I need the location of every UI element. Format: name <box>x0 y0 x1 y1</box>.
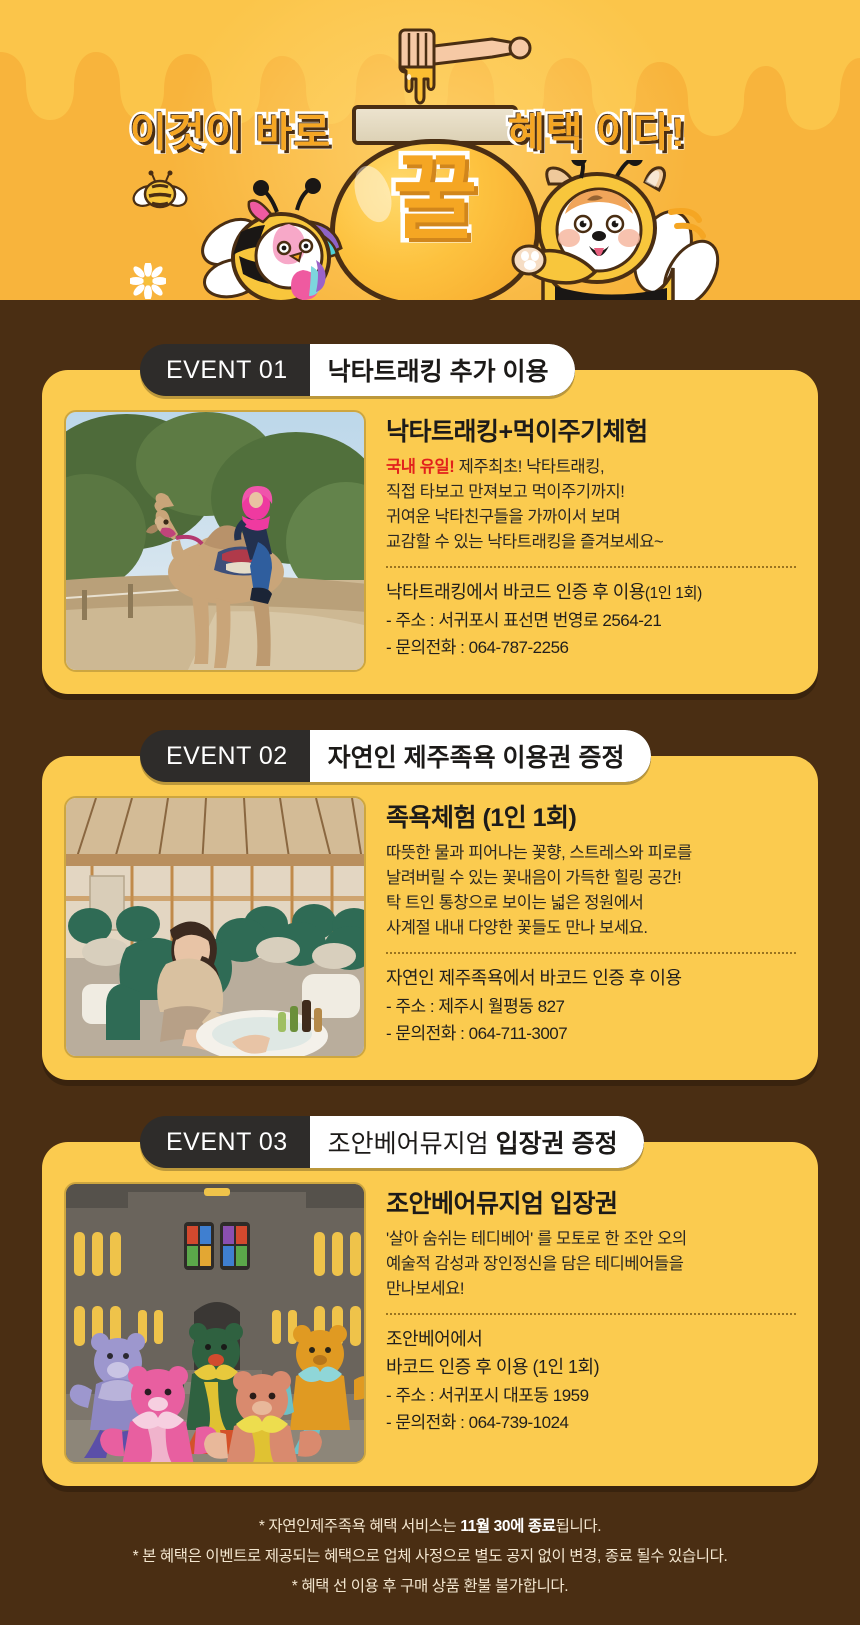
event-02-desc-line-3: 사계절 내내 다양한 꽃들도 만나 보세요. <box>386 919 648 937</box>
event-03-usage-1: 조안베어에서 <box>386 1326 796 1354</box>
event-01-divider <box>386 566 796 568</box>
event-02-number: EVENT 02 <box>140 730 310 782</box>
event-01-phone[interactable]: - 문의전화 : 064-787-2256 <box>386 634 796 661</box>
event-03-title-light: 조안베어뮤지엄 <box>328 1124 489 1160</box>
event-02-pill[interactable]: EVENT 02 자연인 제주족욕 이용권 증정 <box>140 730 651 782</box>
camel-trekking-photo <box>64 410 366 672</box>
foot-bath-spa-photo <box>64 796 366 1058</box>
footer-line-3: * 혜택 선 이용 후 구매 상품 환불 불가합니다. <box>20 1572 840 1602</box>
event-03-heading: 조안베어뮤지엄 입장권 <box>386 1184 796 1220</box>
event-01-usage: 낙타트래킹에서 바코드 인증 후 이용(1인 1회) <box>386 579 796 607</box>
hero-spacer <box>0 300 860 344</box>
event-01-card: 낙타트래킹+먹이주기체험 국내 유일! 제주최초! 낙타트래킹, 직접 타보고 … <box>42 370 818 694</box>
event-02-address: - 주소 : 제주시 월평동 827 <box>386 993 796 1020</box>
section-spacer-1 <box>0 694 860 730</box>
event-02-body: 족욕체험 (1인 1회) 따뜻한 물과 피어나는 꽃향, 스트레스와 피로를 날… <box>386 796 796 1058</box>
footer-line-1-post: 됩니다. <box>556 1518 602 1535</box>
event-02-desc-line-0: 따뜻한 물과 피어나는 꽃향, 스트레스와 피로를 <box>386 844 692 862</box>
event-03-usage-2: 바코드 인증 후 이용 (1인 1회) <box>386 1354 796 1382</box>
event-02-title-bold: 자연인 제주족욕 이용권 증정 <box>328 738 625 774</box>
hero-title-right: 혜택 이다! <box>508 100 686 158</box>
event-03-phone[interactable]: - 문의전화 : 064-739-1024 <box>386 1409 796 1436</box>
event-02-tag-row: EVENT 02 자연인 제주족욕 이용권 증정 <box>0 730 860 782</box>
event-01-desc-line-3: 교감할 수 있는 낙타트래킹을 즐겨보세요~ <box>386 533 663 551</box>
event-01-usage-small: (1인 1회) <box>645 585 702 602</box>
teddy-bear-museum-photo <box>64 1182 366 1464</box>
event-03-pill[interactable]: EVENT 03 조안베어뮤지엄입장권 증정 <box>140 1116 644 1168</box>
event-01-desc-line-1: 직접 타보고 만져보고 먹이주기까지! <box>386 483 624 501</box>
event-01-title: 낙타트래킹 추가 이용 <box>310 344 575 396</box>
event-02-title: 자연인 제주족욕 이용권 증정 <box>310 730 651 782</box>
event-01-number: EVENT 01 <box>140 344 310 396</box>
event-01-tag-row: EVENT 01 낙타트래킹 추가 이용 <box>0 344 860 396</box>
dog-in-bee-costume-mascot <box>495 160 725 300</box>
small-bee-icon <box>130 170 192 218</box>
event-02-heading: 족욕체험 (1인 1회) <box>386 798 796 834</box>
hero-title-left: 이것이 바로 <box>130 100 331 158</box>
event-02-desc-line-1: 날려버릴 수 있는 꽃내음이 가득한 힐링 공간! <box>386 869 681 887</box>
event-03-desc-line-0: '살아 숨쉬는 테디베어' 를 모토로 한 조안 오의 <box>386 1230 687 1248</box>
event-03-body: 조안베어뮤지엄 입장권 '살아 숨쉬는 테디베어' 를 모토로 한 조안 오의 … <box>386 1182 796 1464</box>
event-section-03: EVENT 03 조안베어뮤지엄입장권 증정 <box>0 1116 860 1486</box>
event-02-desc-line-2: 탁 트인 통창으로 보이는 넓은 정원에서 <box>386 894 643 912</box>
hero-banner: 꿀 이것이 바로 혜택 이다! <box>0 0 860 300</box>
event-section-02: EVENT 02 자연인 제주족욕 이용권 증정 <box>0 730 860 1080</box>
event-02-phone[interactable]: - 문의전화 : 064-711-3007 <box>386 1020 796 1047</box>
event-03-address: - 주소 : 서귀포시 대포동 1959 <box>386 1382 796 1409</box>
event-01-address: - 주소 : 서귀포시 표선면 번영로 2564-21 <box>386 607 796 634</box>
white-flower-icon <box>130 263 166 299</box>
event-03-description: '살아 숨쉬는 테디베어' 를 모토로 한 조안 오의 예술적 감성과 장인정신… <box>386 1227 796 1302</box>
event-02-usage: 자연인 제주족욕에서 바코드 인증 후 이용 <box>386 965 796 993</box>
event-03-title: 조안베어뮤지엄입장권 증정 <box>310 1116 644 1168</box>
event-01-usage-main: 낙타트래킹에서 바코드 인증 후 이용 <box>386 582 645 602</box>
event-01-heading: 낙타트래킹+먹이주기체험 <box>386 412 796 448</box>
bird-in-bee-costume-mascot <box>185 170 360 300</box>
event-01-body: 낙타트래킹+먹이주기체험 국내 유일! 제주최초! 낙타트래킹, 직접 타보고 … <box>386 410 796 672</box>
footer-disclaimer: * 자연인제주족욕 혜택 서비스는 11월 30에 종료됩니다. * 본 혜택은… <box>0 1486 860 1625</box>
event-03-desc-line-1: 예술적 감성과 장인정신을 담은 테디베어들을 <box>386 1255 684 1273</box>
event-02-card: 족욕체험 (1인 1회) 따뜻한 물과 피어나는 꽃향, 스트레스와 피로를 날… <box>42 756 818 1080</box>
footer-line-1-bold: 11월 30에 종료 <box>460 1518 555 1535</box>
event-01-description: 국내 유일! 제주최초! 낙타트래킹, 직접 타보고 만져보고 먹이주기까지! … <box>386 455 796 555</box>
event-03-divider <box>386 1313 796 1315</box>
event-02-description: 따뜻한 물과 피어나는 꽃향, 스트레스와 피로를 날려버릴 수 있는 꽃내음이… <box>386 841 796 941</box>
event-03-title-bold: 입장권 증정 <box>496 1124 618 1160</box>
event-03-tag-row: EVENT 03 조안베어뮤지엄입장권 증정 <box>0 1116 860 1168</box>
event-01-desc-line-2: 귀여운 낙타친구들을 가까이서 보며 <box>386 508 620 526</box>
event-01-pill[interactable]: EVENT 01 낙타트래킹 추가 이용 <box>140 344 575 396</box>
event-03-card: 조안베어뮤지엄 입장권 '살아 숨쉬는 테디베어' 를 모토로 한 조안 오의 … <box>42 1142 818 1486</box>
event-03-desc-line-2: 만나보세요! <box>386 1280 464 1298</box>
event-01-highlight: 국내 유일! <box>386 458 454 476</box>
event-01-desc-line-0: 제주최초! 낙타트래킹, <box>454 458 604 476</box>
event-02-divider <box>386 952 796 954</box>
event-03-number: EVENT 03 <box>140 1116 310 1168</box>
footer-line-1: * 자연인제주족욕 혜택 서비스는 11월 30에 종료됩니다. <box>20 1512 840 1542</box>
footer-line-1-pre: * 자연인제주족욕 혜택 서비스는 <box>259 1518 460 1535</box>
event-section-01: EVENT 01 낙타트래킹 추가 이용 <box>0 344 860 694</box>
event-01-title-bold: 낙타트래킹 추가 이용 <box>328 352 549 388</box>
section-spacer-2 <box>0 1080 860 1116</box>
footer-line-2: * 본 혜택은 이벤트로 제공되는 혜택으로 업체 사정으로 별도 공지 없이 … <box>20 1542 840 1572</box>
